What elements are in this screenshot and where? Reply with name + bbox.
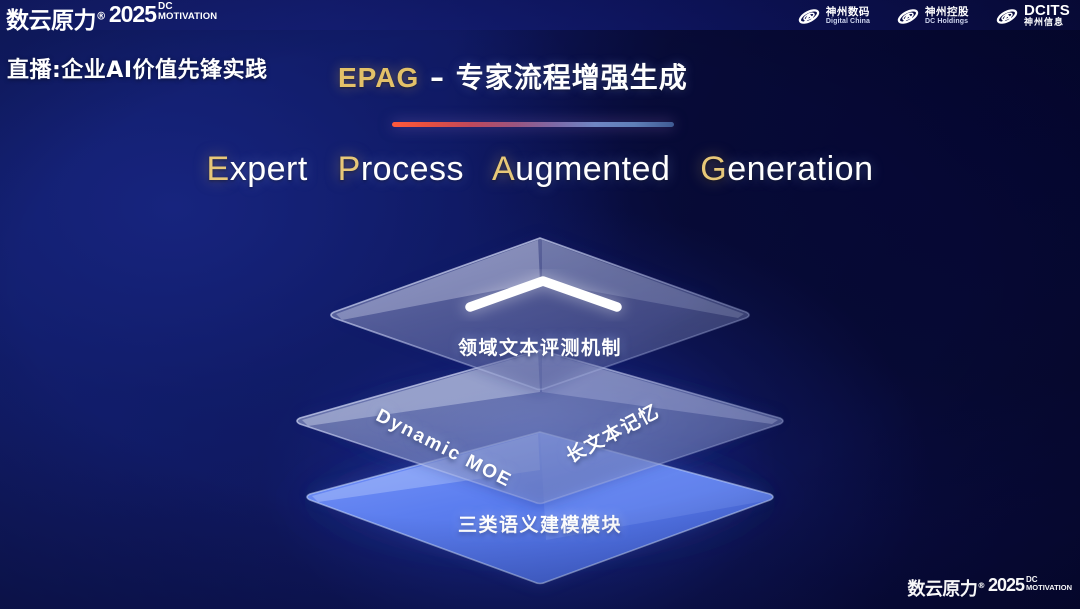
diagram-layer-middle	[297, 348, 783, 506]
middle-plate	[297, 350, 783, 504]
subtitle-word-process: Process	[338, 150, 464, 188]
partner-name-cn: 神州控股	[925, 7, 969, 18]
layer-label-dynamic-moe: Dynamic MOE	[372, 405, 515, 493]
subtitle-space	[318, 150, 328, 188]
partner-text: DCITS 神州信息	[1024, 3, 1070, 29]
partner-name-cn: 神州数码	[826, 7, 870, 18]
page-title-accent: EPAG	[338, 62, 419, 93]
subtitle-space	[680, 150, 690, 188]
partner-text: 神州数码 Digital China	[826, 7, 870, 26]
title-divider	[392, 122, 674, 127]
spiral-logo-icon	[797, 4, 821, 28]
registered-mark: ®	[977, 580, 985, 590]
partner-logo-dc-holdings: 神州控股 DC Holdings	[896, 4, 969, 28]
subtitle-space	[474, 150, 484, 188]
subtitle-word-expert: Expert	[207, 150, 308, 188]
bottom-layer-glow	[275, 428, 805, 572]
spiral-logo-icon	[896, 4, 920, 28]
layer-label-long-text-memory: 长文本记忆	[561, 396, 664, 468]
subtitle: Expert Process Augmented Generation	[0, 150, 1080, 189]
watermark-year: 2025	[988, 575, 1024, 596]
watermark-motivation: MOTIVATION	[1026, 584, 1072, 591]
bottom-plate	[307, 432, 773, 584]
registered-mark: ®	[96, 10, 106, 22]
page-title-rest: 专家流程增强生成	[456, 61, 688, 94]
event-logo: 数云原力® 2025 DC MOTIVATION	[6, 1, 217, 35]
event-logo-dc-motivation: DC MOTIVATION	[158, 2, 217, 21]
partner-text: 神州控股 DC Holdings	[925, 7, 969, 26]
partner-name-en: DCITS	[1024, 3, 1070, 19]
live-stream-title: 直播:企业AI价值先锋实践	[7, 52, 268, 84]
spiral-logo-icon	[995, 4, 1019, 28]
layer-label-bottom: 三类语义建模模块	[0, 510, 1080, 537]
slide-stage: 领域文本评测机制 Dynamic MOE 长文本记忆 三类语义建模模块 数云原力…	[0, 0, 1080, 609]
watermark-logo: 数云原力® 2025 DC MOTIVATION	[907, 575, 1072, 601]
event-logo-year: 2025	[109, 1, 156, 28]
subtitle-word-augmented: Augmented	[492, 150, 670, 188]
partner-name-en: Digital China	[826, 18, 870, 26]
event-logo-name: 数云原力®	[6, 1, 106, 35]
partner-name-en: DC Holdings	[925, 18, 969, 26]
watermark-dc-motivation: DC MOTIVATION	[1026, 576, 1072, 591]
partner-logo-dcits: DCITS 神州信息	[995, 3, 1070, 29]
diagram-layer-top	[331, 236, 749, 392]
subtitle-word-generation: Generation	[700, 150, 873, 188]
page-title: EPAG – 专家流程增强生成	[338, 56, 688, 96]
partner-name-cn: 神州信息	[1024, 19, 1070, 29]
top-plate	[331, 238, 749, 390]
diagram-layer-bottom	[307, 430, 773, 586]
chevron-up-icon	[470, 281, 617, 307]
layer-label-top: 领域文本评测机制	[0, 333, 1080, 360]
partner-logos: 神州数码 Digital China 神州控股 DC Holdings	[797, 3, 1070, 29]
partner-logo-digital-china: 神州数码 Digital China	[797, 4, 870, 28]
page-title-separator: –	[419, 61, 456, 94]
event-logo-motivation: MOTIVATION	[158, 12, 217, 21]
watermark-name: 数云原力®	[907, 575, 985, 601]
